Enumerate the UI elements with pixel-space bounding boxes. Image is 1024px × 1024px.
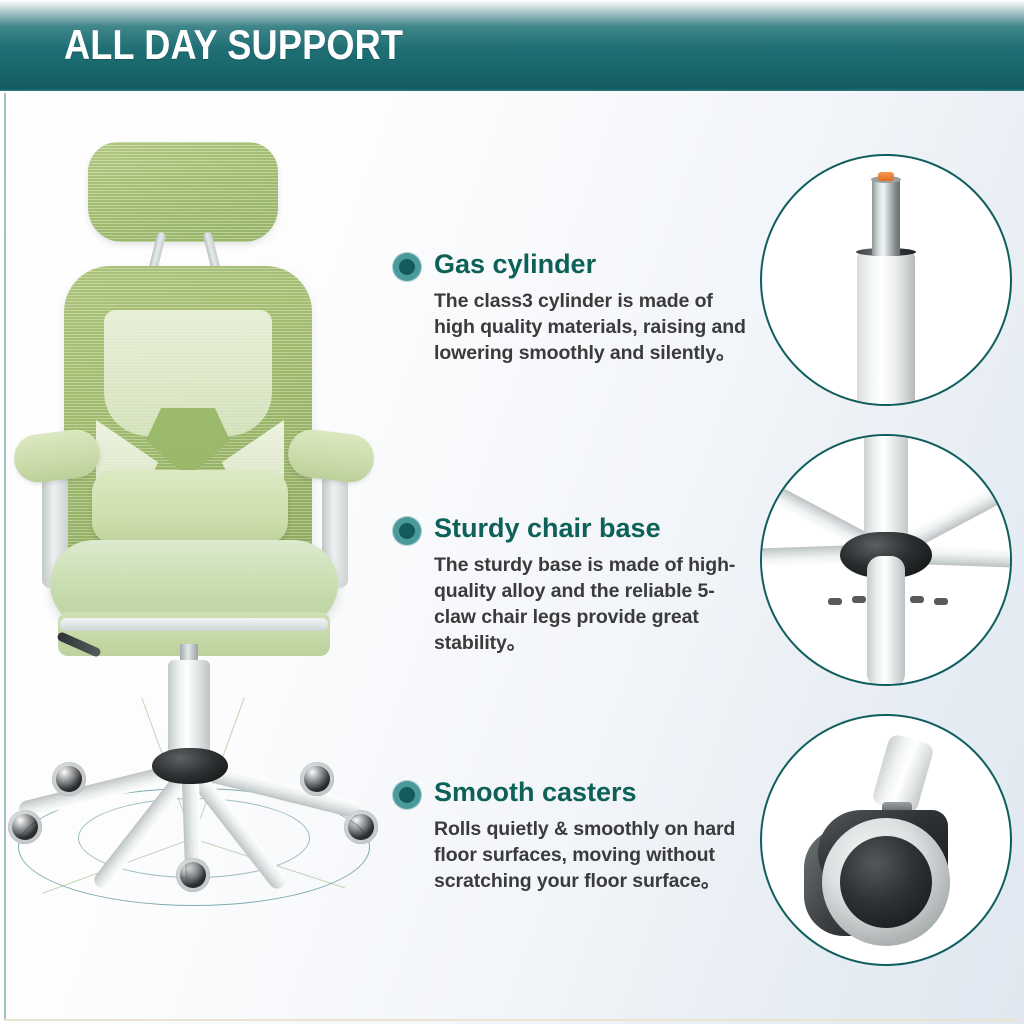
base-foot — [910, 596, 924, 603]
chair-product-image — [0, 120, 392, 910]
chair-headrest — [88, 142, 278, 242]
feature-description: Rolls quietly & smoothly on hard floor s… — [434, 816, 752, 894]
base-foot — [828, 598, 842, 605]
frame-line-bottom — [4, 1019, 1020, 1021]
chair-base-hub — [152, 748, 228, 784]
page-title: ALL DAY SUPPORT — [64, 22, 403, 68]
header-underline — [0, 88, 1024, 91]
lumbar-cushion — [92, 470, 288, 544]
feature-title: Gas cylinder — [434, 248, 596, 280]
bullet-marker-icon — [392, 252, 422, 282]
inset-caster-photo — [760, 714, 1012, 966]
bullet-marker-icon — [392, 516, 422, 546]
inset-chair-base-photo — [760, 434, 1012, 686]
chair-caster — [300, 762, 334, 796]
footrest-rail — [60, 618, 328, 631]
chair-caster — [344, 810, 378, 844]
gas-cylinder-body — [857, 252, 915, 406]
base-foot — [852, 596, 866, 603]
gas-cylinder-shaft — [872, 178, 900, 256]
chair-caster — [176, 858, 210, 892]
gas-cylinder-tip — [878, 172, 894, 181]
chair-caster — [8, 810, 42, 844]
chair-gas-cylinder — [168, 660, 210, 760]
feature-description: The sturdy base is made of high-quality … — [434, 552, 752, 656]
base-foot — [934, 598, 948, 605]
inset-gas-cylinder-photo — [760, 154, 1012, 406]
feature-title: Smooth casters — [434, 776, 637, 808]
bullet-marker-icon — [392, 780, 422, 810]
header-banner: ALL DAY SUPPORT — [0, 0, 1024, 88]
infographic-page: ALL DAY SUPPORT — [0, 0, 1024, 1024]
caster-hub — [840, 836, 932, 928]
feature-title: Sturdy chair base — [434, 512, 661, 544]
chair-caster — [52, 762, 86, 796]
base-front-leg — [867, 556, 905, 686]
feature-description: The class3 cylinder is made of high qual… — [434, 288, 752, 366]
